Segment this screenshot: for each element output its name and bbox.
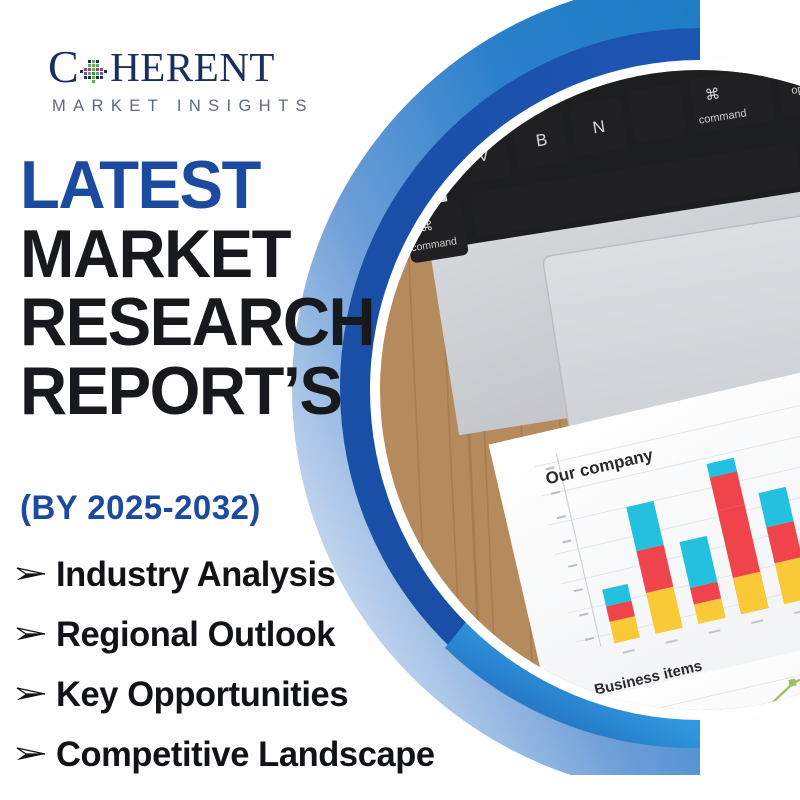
dotted-flower-icon [79,52,109,82]
key-label-command: command [698,107,748,126]
list-item: Competitive Landscape [16,732,536,776]
arrow-bullet-icon [16,561,50,587]
spacebar [469,142,800,237]
bar-chart-grid [535,379,800,642]
list-item-label: Competitive Landscape [56,737,435,772]
headline-line-2: MARKET [20,221,433,288]
brand-name-c: C [48,44,79,90]
list-item-label: Industry Analysis [56,557,335,592]
feature-list: Industry Analysis Regional Outlook K [16,552,536,792]
list-item-label: Regional Outlook [56,617,335,652]
bar-chart-bars [580,428,800,643]
headline-line-3: RESEARCH [20,289,433,356]
list-item: Industry Analysis [16,552,536,596]
line-series-green [600,637,800,797]
key-label-b: B [535,130,549,151]
line-series-green-points [596,650,800,800]
list-item-label: Key Opportunities [56,677,348,712]
line-chart-x-ticks [713,773,800,800]
line-series-pink [616,652,800,800]
bar-chart-xlabel: Business items [593,658,704,699]
headline-line-4: REPORT’S [20,358,433,425]
brand-name-rest: HERENT [110,47,275,88]
brand-tagline: MARKET INSIGHTS [52,97,348,116]
brand-wordmark: C [48,44,348,90]
trackpad [542,210,800,450]
bar-chart-title: Our company [544,445,656,488]
arrow-bullet-icon [16,741,50,767]
trackpad-notch [703,419,750,433]
brand-logo[interactable]: C [48,44,348,116]
page-title: LATEST MARKET RESEARCH REPORT’S [20,152,450,427]
line-chart-paper [525,615,800,800]
headline-line-1: LATEST [20,152,433,219]
list-item: Key Opportunities [16,672,536,716]
arrow-bullet-icon [16,621,50,647]
line-chart-grid [589,641,800,800]
key-label-option: option [790,80,800,97]
keyboard-keys: V B N ⌘ command option [449,54,800,185]
key-label-v: V [476,145,491,166]
bar-chart-x-ticks [623,590,800,654]
key-label-n: N [591,117,606,138]
forecast-period-label: (BY 2025-2032) [20,489,261,528]
line-chart-y-ticks [575,725,608,800]
list-item: Regional Outlook [16,612,536,656]
poster-canvas: V B N ⌘ command option ⌘ command [0,0,800,800]
bar-chart-y-ticks [545,466,594,640]
bar-chart-y-axis [556,454,601,647]
arrow-bullet-icon [16,681,50,707]
line-series-pink-points [614,675,800,800]
key-symbol-command: ⌘ [704,84,722,104]
